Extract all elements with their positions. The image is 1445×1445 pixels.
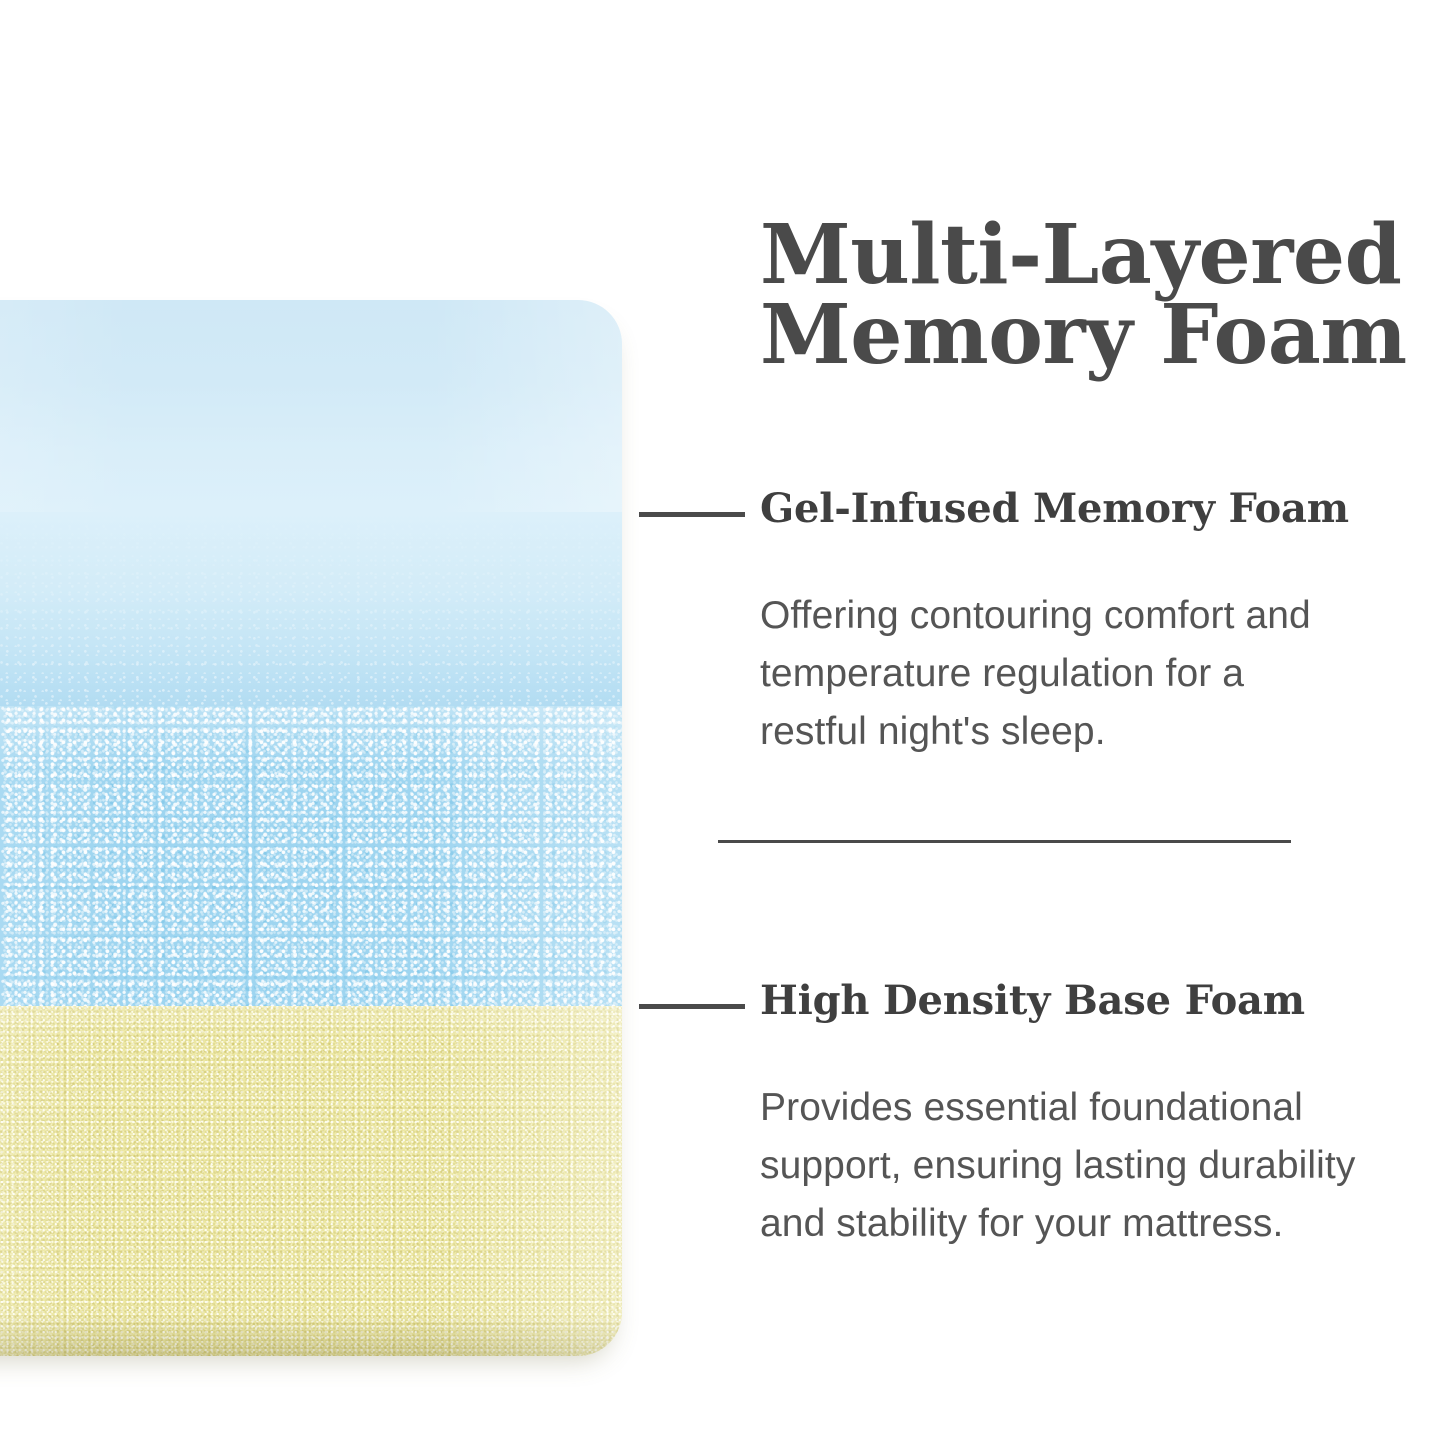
feature-title: Gel-Infused Memory Foam (760, 486, 1349, 532)
feature-description: Provides essential foundational support,… (760, 1079, 1440, 1253)
feature-heading-row: Gel-Infused Memory Foam (639, 488, 1445, 540)
foam-layer-gel-transition (0, 512, 622, 706)
foam-block-image (0, 300, 622, 1356)
foam-layer-high-density-base-foam (0, 1006, 622, 1356)
dash-marker-icon (639, 1004, 745, 1009)
feature-heading-row: High Density Base Foam (639, 980, 1445, 1032)
infographic-page: Multi-Layered Memory Foam Gel-Infused Me… (0, 0, 1445, 1445)
feature-block-high-density-base-foam: High Density Base Foam Provides essentia… (639, 980, 1445, 1032)
foam-layer-gel-infused-memory-foam (0, 706, 622, 1006)
foam-layer-gel-top-surface (0, 300, 622, 512)
section-divider (718, 840, 1291, 843)
feature-block-gel-infused-memory-foam: Gel-Infused Memory Foam Offering contour… (639, 488, 1445, 540)
page-title: Multi-Layered Memory Foam (760, 215, 1440, 376)
content-column: Multi-Layered Memory Foam Gel-Infused Me… (639, 0, 1445, 1445)
feature-description: Offering contouring comfort and temperat… (760, 587, 1440, 761)
foam-shading-overlay (0, 1006, 622, 1356)
foam-shading-overlay (0, 706, 622, 1006)
feature-title: High Density Base Foam (760, 978, 1305, 1024)
dash-marker-icon (639, 512, 745, 517)
